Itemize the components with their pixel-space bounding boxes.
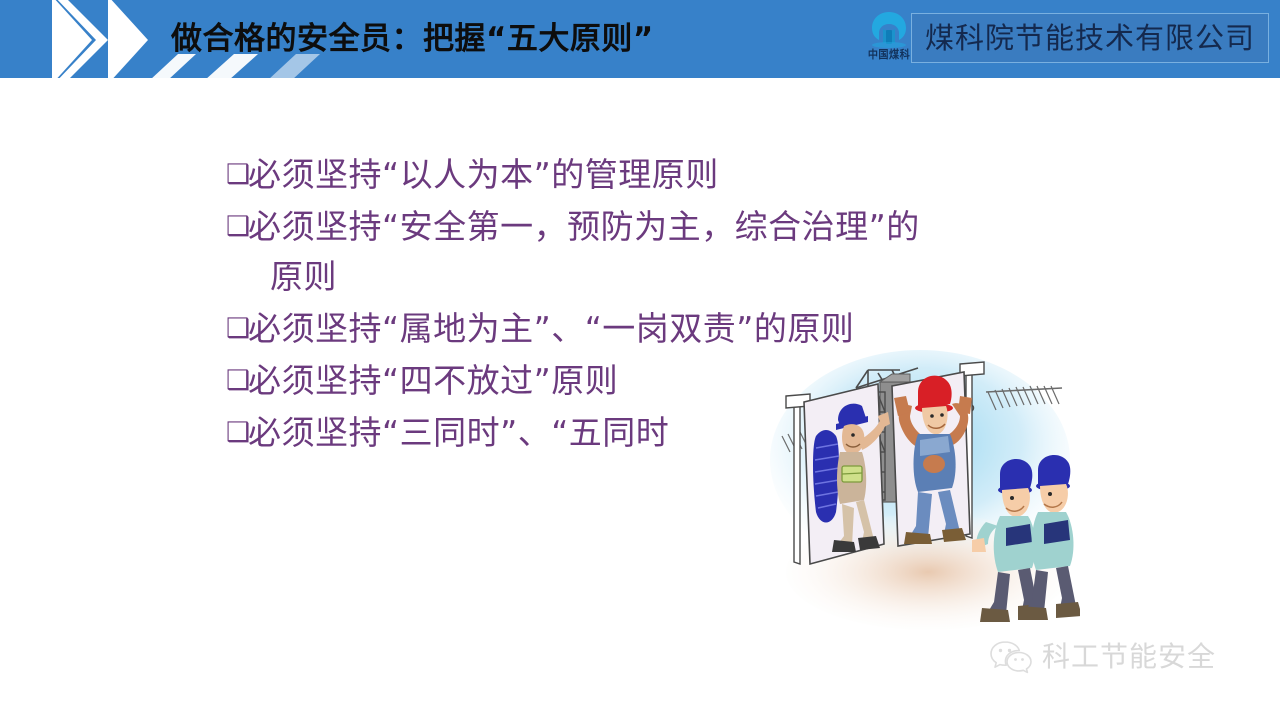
construction-safety-poster-illustration [760, 340, 1080, 632]
list-item-label: 必须坚持“安全第一，预防为主，综合治理”的原则 [248, 207, 920, 296]
list-item: ❑必须坚持“安全第一，预防为主，综合治理”的原则 [226, 202, 926, 302]
bullet-square-icon: ❑ [226, 408, 248, 458]
company-name-box: 煤科院节能技术有限公司 [911, 13, 1269, 63]
watermark: 科工节能安全 [990, 640, 1216, 674]
bullet-square-icon: ❑ [226, 304, 248, 354]
list-item: ❑必须坚持“三同时”、“五同时 [226, 408, 846, 458]
brand-logo-caption: 中国煤科 [868, 48, 910, 61]
company-name-text: 煤科院节能技术有限公司 [925, 21, 1255, 55]
double-chevron-right-icon [52, 0, 114, 78]
china-coal-technology-emblem-icon [863, 9, 915, 49]
bullet-square-icon: ❑ [226, 202, 248, 252]
slide-canvas: 做合格的安全员：把握“五大原则” 中国煤科 煤科院节能技术有限公司 ❑必须坚持“… [0, 0, 1280, 720]
list-item-label: 必须坚持“三同时”、“五同时 [248, 413, 669, 452]
page-title: 做合格的安全员：把握“五大原则” [171, 15, 654, 63]
list-item-label: 必须坚持“以人为本”的管理原则 [248, 155, 719, 194]
double-chevron-right-icon [108, 0, 170, 78]
list-item: ❑必须坚持“以人为本”的管理原则 [226, 150, 986, 200]
header-banner: 做合格的安全员：把握“五大原则” 中国煤科 煤科院节能技术有限公司 [0, 0, 1280, 78]
watermark-label: 科工节能安全 [1042, 640, 1216, 674]
bullet-square-icon: ❑ [226, 356, 248, 406]
list-item-label: 必须坚持“四不放过”原则 [248, 361, 618, 400]
wechat-icon [990, 640, 1032, 674]
bullet-square-icon: ❑ [226, 150, 248, 200]
